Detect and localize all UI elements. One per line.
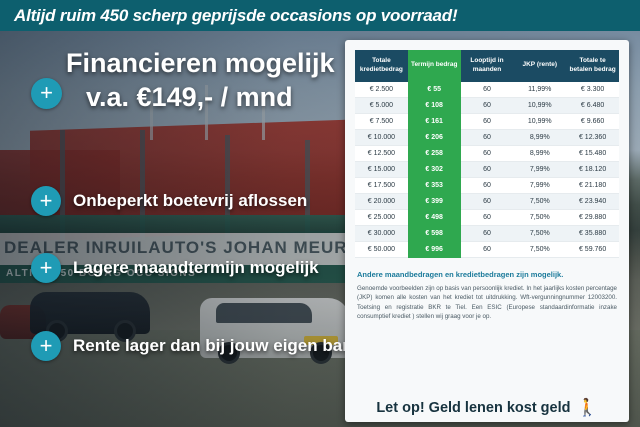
cell-total-payable: € 18.120 xyxy=(566,161,619,177)
cell-apr: 7,99% xyxy=(513,161,566,177)
cell-total-payable: € 23.940 xyxy=(566,193,619,209)
cell-apr: 11,99% xyxy=(513,82,566,98)
pedestrian-icon: 🚶 xyxy=(577,399,598,416)
promo-banner: DEALER INRUILAUTO'S JOHAN MEURS ALTIJD 4… xyxy=(0,0,640,427)
cell-total-credit: € 20.000 xyxy=(355,193,408,209)
cell-duration: 60 xyxy=(461,113,514,129)
table-row: € 12.500 € 258 60 8,99% € 15.480 xyxy=(355,145,619,161)
cell-apr: 10,99% xyxy=(513,97,566,113)
top-banner: Altijd ruim 450 scherp geprijsde occasio… xyxy=(0,0,640,31)
cell-total-credit: € 15.000 xyxy=(355,161,408,177)
cell-apr: 8,99% xyxy=(513,145,566,161)
cell-total-credit: € 10.000 xyxy=(355,129,408,145)
cell-total-payable: € 59.760 xyxy=(566,241,619,257)
cell-apr: 7,99% xyxy=(513,177,566,193)
table-row: € 15.000 € 302 60 7,99% € 18.120 xyxy=(355,161,619,177)
cell-duration: 60 xyxy=(461,145,514,161)
plus-icon: + xyxy=(31,78,62,109)
cell-total-credit: € 2.500 xyxy=(355,82,408,98)
cell-apr: 10,99% xyxy=(513,113,566,129)
cell-duration: 60 xyxy=(461,241,514,257)
cell-monthly: € 353 xyxy=(408,177,461,193)
table-row: € 30.000 € 598 60 7,50% € 35.880 xyxy=(355,225,619,241)
headline-line-2: v.a. €149,- / mnd xyxy=(86,82,293,113)
cell-duration: 60 xyxy=(461,161,514,177)
warning-block: Let op! Geld lenen kost geld 🚶 xyxy=(345,399,629,416)
cell-total-payable: € 21.180 xyxy=(566,177,619,193)
cell-monthly: € 399 xyxy=(408,193,461,209)
plus-icon: + xyxy=(31,331,61,361)
cell-monthly: € 108 xyxy=(408,97,461,113)
cell-apr: 7,50% xyxy=(513,225,566,241)
cell-monthly: € 598 xyxy=(408,225,461,241)
cell-duration: 60 xyxy=(461,82,514,98)
cell-monthly: € 498 xyxy=(408,209,461,225)
cell-total-payable: € 29.880 xyxy=(566,209,619,225)
cell-monthly: € 302 xyxy=(408,161,461,177)
table-row: € 17.500 € 353 60 7,99% € 21.180 xyxy=(355,177,619,193)
cell-monthly: € 258 xyxy=(408,145,461,161)
col-header-total-credit: Totale kredietbedrag xyxy=(355,50,408,82)
cell-monthly: € 996 xyxy=(408,241,461,257)
building-canopy xyxy=(30,119,360,241)
cell-duration: 60 xyxy=(461,129,514,145)
col-header-total-payable: Totale te betalen bedrag xyxy=(566,50,619,82)
rates-card: Totale kredietbedrag Termijn bedrag Loop… xyxy=(345,40,629,422)
table-row: € 2.500 € 55 60 11,99% € 3.300 xyxy=(355,82,619,98)
cell-apr: 7,50% xyxy=(513,209,566,225)
pole xyxy=(60,130,65,240)
cell-total-payable: € 12.360 xyxy=(566,129,619,145)
cell-total-credit: € 25.000 xyxy=(355,209,408,225)
cell-total-payable: € 9.660 xyxy=(566,113,619,129)
headline-block: + xyxy=(31,78,62,109)
cell-monthly: € 161 xyxy=(408,113,461,129)
cell-duration: 60 xyxy=(461,177,514,193)
car-dark xyxy=(30,292,150,334)
col-header-monthly: Termijn bedrag xyxy=(408,50,461,82)
table-header-row: Totale kredietbedrag Termijn bedrag Loop… xyxy=(355,50,619,82)
bullet-item-3: + Rente lager dan bij jouw eigen bank xyxy=(31,331,362,361)
pole xyxy=(140,130,145,240)
cell-duration: 60 xyxy=(461,97,514,113)
note-title: Andere maandbedragen en kredietbedragen … xyxy=(357,270,617,279)
cell-duration: 60 xyxy=(461,193,514,209)
cell-total-credit: € 17.500 xyxy=(355,177,408,193)
table-row: € 50.000 € 996 60 7,50% € 59.760 xyxy=(355,241,619,257)
cell-duration: 60 xyxy=(461,225,514,241)
bullet-item-1: + Onbeperkt boetevrij aflossen xyxy=(31,186,307,216)
cell-apr: 7,50% xyxy=(513,193,566,209)
plus-icon: + xyxy=(31,253,61,283)
col-header-apr: JKP (rente) xyxy=(513,50,566,82)
cell-apr: 7,50% xyxy=(513,241,566,257)
table-row: € 10.000 € 206 60 8,99% € 12.360 xyxy=(355,129,619,145)
table-row: € 5.000 € 108 60 10,99% € 6.480 xyxy=(355,97,619,113)
cell-apr: 8,99% xyxy=(513,129,566,145)
roof-strip xyxy=(0,215,360,233)
table-row: € 25.000 € 498 60 7,50% € 29.880 xyxy=(355,209,619,225)
table-row: € 7.500 € 161 60 10,99% € 9.660 xyxy=(355,113,619,129)
cell-total-payable: € 35.880 xyxy=(566,225,619,241)
cell-total-credit: € 7.500 xyxy=(355,113,408,129)
cell-total-payable: € 3.300 xyxy=(566,82,619,98)
cell-total-credit: € 5.000 xyxy=(355,97,408,113)
table-row: € 20.000 € 399 60 7,50% € 23.940 xyxy=(355,193,619,209)
cell-total-payable: € 6.480 xyxy=(566,97,619,113)
bullet-label: Lagere maandtermijn mogelijk xyxy=(73,258,319,278)
bullet-label: Rente lager dan bij jouw eigen bank xyxy=(73,336,362,356)
rates-table: Totale kredietbedrag Termijn bedrag Loop… xyxy=(355,50,619,258)
note-body: Genoemde voorbeelden zijn op basis van p… xyxy=(357,284,617,322)
headline-line-1: Financieren mogelijk xyxy=(66,48,335,79)
cell-total-credit: € 30.000 xyxy=(355,225,408,241)
bullet-item-2: + Lagere maandtermijn mogelijk xyxy=(31,253,319,283)
cell-total-credit: € 50.000 xyxy=(355,241,408,257)
cell-monthly: € 55 xyxy=(408,82,461,98)
cell-monthly: € 206 xyxy=(408,129,461,145)
cell-total-payable: € 15.480 xyxy=(566,145,619,161)
bullet-label: Onbeperkt boetevrij aflossen xyxy=(73,191,307,211)
col-header-duration: Looptijd in maanden xyxy=(461,50,514,82)
plus-icon: + xyxy=(31,186,61,216)
car-window xyxy=(216,303,312,323)
warning-text: Let op! Geld lenen kost geld xyxy=(376,400,570,416)
cell-total-credit: € 12.500 xyxy=(355,145,408,161)
cell-duration: 60 xyxy=(461,209,514,225)
top-banner-text: Altijd ruim 450 scherp geprijsde occasio… xyxy=(0,6,457,26)
